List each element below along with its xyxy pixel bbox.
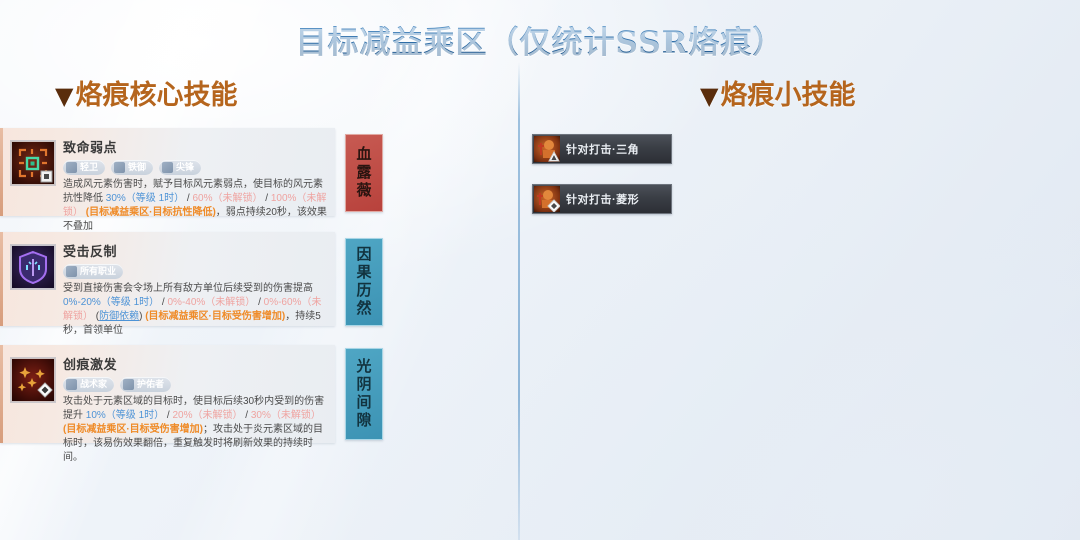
description-segment: (目标减益乘区·目标抗性降低)	[83, 207, 216, 218]
skill-tag: 铁御	[111, 160, 153, 175]
skill-tag-label: 尖锋	[176, 161, 194, 174]
description-segment: 0%-40%（未解锁）	[167, 297, 255, 308]
description-segment: 10%（等级 1时）	[86, 410, 164, 421]
small-skill-row[interactable]: 针对打击·菱形	[532, 184, 672, 214]
skill-card[interactable]: 创痕激发 战术家护佑者 攻击处于元素区域的目标时，使目标后续30秒内受到的伤害提…	[0, 345, 335, 443]
skill-card[interactable]: 致命弱点 轻卫铁御尖锋 造成风元素伤害时，赋予目标风元素弱点，使目标的风元素抗性…	[0, 128, 335, 216]
section-heading-core-skills-label: 烙痕核心技能	[75, 80, 237, 111]
description-segment: (目标减益乘区·目标受伤害增加)	[63, 424, 203, 435]
imprint-name-plate: 血露薇	[345, 134, 383, 212]
description-segment[interactable]: 防御依赖	[99, 311, 139, 322]
skill-card[interactable]: 受击反制 所有职业 受到直接伤害会令场上所有敌方单位后续受到的伤害提高 0%-2…	[0, 232, 335, 326]
skill-tag-label: 铁御	[128, 161, 146, 174]
small-skill-row[interactable]: 针对打击·三角	[532, 134, 672, 164]
center-divider	[518, 62, 520, 540]
skill-tag-label: 护佑者	[137, 378, 164, 391]
skill-name: 创痕激发	[63, 354, 329, 373]
description-segment: /	[255, 297, 263, 308]
imprint-name-plate: 因果历然	[345, 238, 383, 326]
description-segment: /	[263, 193, 271, 204]
skill-tag-list: 轻卫铁御尖锋	[63, 160, 329, 175]
description-segment: 30%（等级 1时）	[106, 193, 184, 204]
imprint-name-plate: 光阴间隙	[345, 348, 383, 440]
skill-card-body: 致命弱点 轻卫铁御尖锋 造成风元素伤害时，赋予目标风元素弱点，使目标的风元素抗性…	[63, 135, 329, 234]
description-segment: (目标减益乘区·目标受伤害增加)	[142, 311, 285, 322]
skill-tag: 所有职业	[63, 264, 123, 279]
all-classes-icon	[66, 266, 77, 277]
description-segment: 20%（未解锁）	[172, 410, 242, 421]
small-skill-label: 针对打击·菱形	[566, 191, 639, 207]
triangle-marker-icon: ▼	[700, 81, 718, 110]
skill-card-body: 创痕激发 战术家护佑者 攻击处于元素区域的目标时，使目标后续30秒内受到的伤害提…	[63, 352, 329, 465]
targeted-strike-rhombus-icon	[534, 186, 560, 212]
description-segment: 0%-20%（等级 1时）	[63, 297, 159, 308]
skill-name: 受击反制	[63, 241, 329, 260]
section-heading-core-skills: ▼烙痕核心技能	[55, 73, 237, 112]
triangle-marker-icon: ▼	[55, 81, 73, 110]
skill-tag: 战术家	[63, 377, 114, 392]
section-heading-small-skills: ▼烙痕小技能	[700, 73, 855, 112]
light-guard-icon	[66, 162, 77, 173]
skill-tag-label: 所有职业	[80, 265, 116, 278]
skill-card-body: 受击反制 所有职业 受到直接伤害会令场上所有敌方单位后续受到的伤害提高 0%-2…	[63, 239, 329, 338]
skill-tag-label: 战术家	[80, 378, 107, 391]
skill-name: 致命弱点	[63, 137, 329, 156]
skill-tag: 轻卫	[63, 160, 105, 175]
description-segment: 受到直接伤害会令场上所有敌方单位后续受到的伤害提高	[63, 283, 313, 294]
targeted-strike-triangle-icon	[534, 136, 560, 162]
section-heading-small-skills-label: 烙痕小技能	[720, 80, 855, 111]
description-segment: /	[243, 410, 251, 421]
small-skill-label: 针对打击·三角	[566, 141, 639, 157]
skill-description: 攻击处于元素区域的目标时，使目标后续30秒内受到的伤害提升 10%（等级 1时）…	[63, 395, 329, 465]
skill-tag-label: 轻卫	[80, 161, 98, 174]
skill-tag: 尖锋	[159, 160, 201, 175]
description-segment: 30%（未解锁）	[251, 410, 321, 421]
page-title: 目标减益乘区（仅统计SSR烙痕）	[0, 17, 1080, 62]
description-segment: 60%（未解锁）	[192, 193, 262, 204]
skill-description: 造成风元素伤害时，赋予目标风元素弱点，使目标的风元素抗性降低 30%（等级 1时…	[63, 178, 329, 234]
skill-tag: 护佑者	[120, 377, 171, 392]
tactician-icon	[66, 379, 77, 390]
skill-description: 受到直接伤害会令场上所有敌方单位后续受到的伤害提高 0%-20%（等级 1时） …	[63, 282, 329, 338]
protector-icon	[123, 379, 134, 390]
scar-burst-icon	[11, 358, 55, 402]
iron-defense-icon	[114, 162, 125, 173]
skill-tag-list: 所有职业	[63, 264, 329, 279]
crosshair-weakpoint-icon	[11, 141, 55, 185]
vanguard-icon	[162, 162, 173, 173]
skill-tag-list: 战术家护佑者	[63, 377, 329, 392]
page-root: 目标减益乘区（仅统计SSR烙痕） ▼烙痕核心技能 ▼烙痕小技能 致命弱点 轻卫铁…	[0, 0, 1080, 540]
shield-counter-icon	[11, 245, 55, 289]
